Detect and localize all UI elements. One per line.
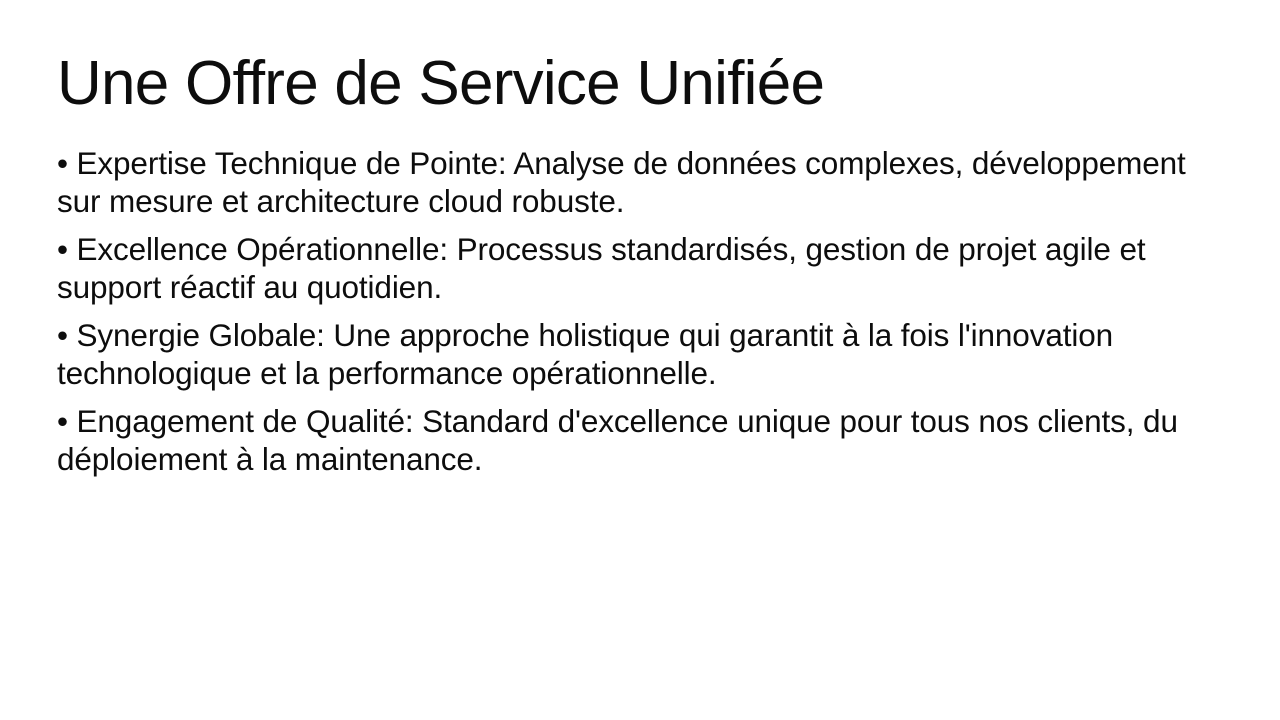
- bullet-list: • Expertise Technique de Pointe: Analyse…: [57, 144, 1229, 478]
- bullet-point-icon: •: [57, 317, 77, 353]
- bullet-point-icon: •: [57, 403, 77, 439]
- list-item: • Engagement de Qualité: Standard d'exce…: [57, 402, 1229, 478]
- list-item: • Expertise Technique de Pointe: Analyse…: [57, 144, 1229, 220]
- bullet-point-icon: •: [57, 145, 77, 181]
- list-item: • Excellence Opérationnelle: Processus s…: [57, 230, 1229, 306]
- slide-title: Une Offre de Service Unifiée: [57, 48, 1227, 120]
- list-item-text: Synergie Globale: Une approche holistiqu…: [57, 317, 1113, 391]
- list-item-text: Expertise Technique de Pointe: Analyse d…: [57, 145, 1186, 219]
- list-item-text: Engagement de Qualité: Standard d'excell…: [57, 403, 1178, 477]
- list-item-text: Excellence Opérationnelle: Processus sta…: [57, 231, 1145, 305]
- bullet-point-icon: •: [57, 231, 77, 267]
- presentation-slide: Une Offre de Service Unifiée • Expertise…: [0, 0, 1280, 720]
- list-item: • Synergie Globale: Une approche holisti…: [57, 316, 1229, 392]
